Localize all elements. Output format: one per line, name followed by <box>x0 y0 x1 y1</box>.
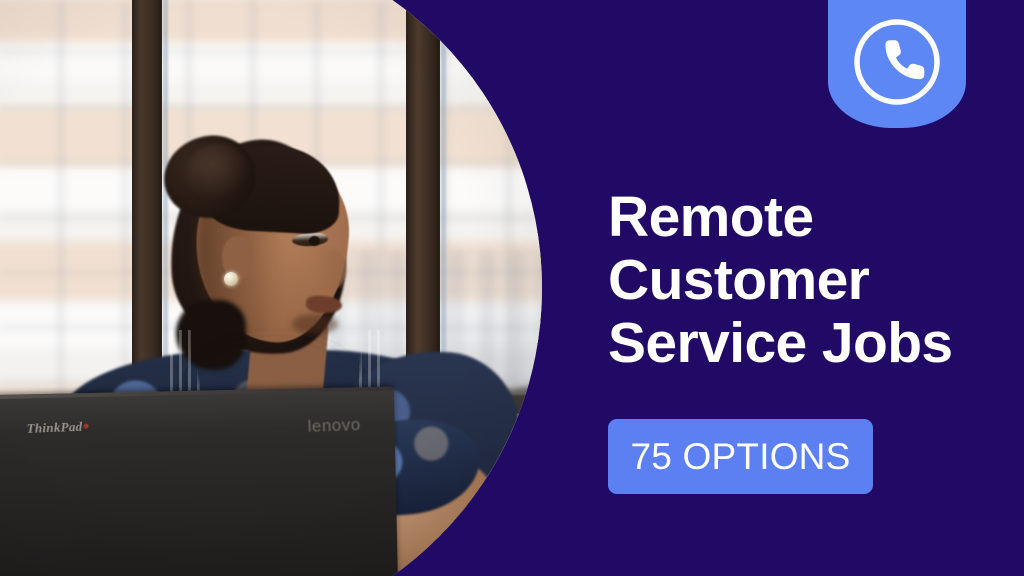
hero-photo: ThinkPad lenovo <box>0 0 545 576</box>
options-count-badge-label: 75 OPTIONS <box>631 438 851 475</box>
promo-banner: ThinkPad lenovo Remote Customer Service … <box>0 0 1024 576</box>
page-title: Remote Customer Service Jobs <box>608 186 1004 375</box>
thinkpad-logo-text: ThinkPad <box>26 419 82 436</box>
options-count-badge[interactable]: 75 OPTIONS <box>608 419 873 494</box>
thinkpad-laptop: ThinkPad lenovo <box>0 387 398 576</box>
phone-in-circle-shield-icon[interactable] <box>828 0 966 128</box>
thinkpad-logo: ThinkPad <box>26 418 88 436</box>
thinkpad-logo-dot <box>83 423 88 428</box>
lenovo-logo: lenovo <box>307 415 361 437</box>
hero-photo-image: ThinkPad lenovo <box>0 0 545 576</box>
